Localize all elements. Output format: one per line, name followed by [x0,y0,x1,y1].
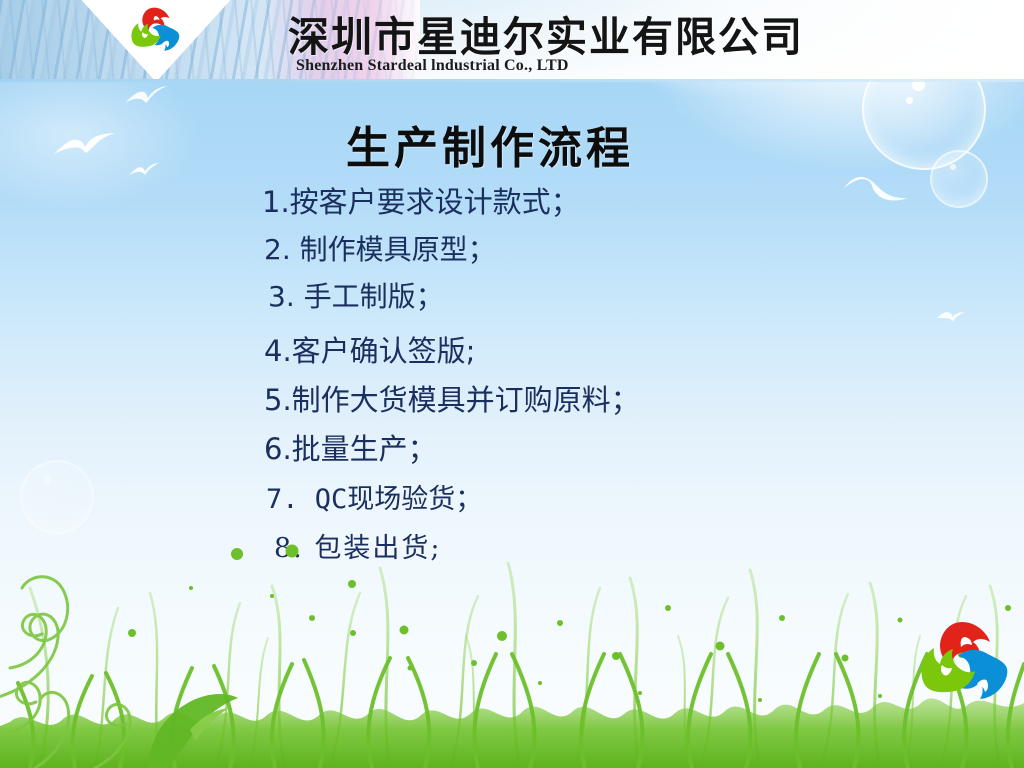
list-item: 1.按客户要求设计款式； [262,188,898,217]
header-divider [0,79,1024,82]
seagull-icon [936,310,966,324]
company-name-en: Shenzhen Stardeal lndustrial Co., LTD [296,57,569,75]
stardeal-logo-icon [108,4,200,64]
company-name-cn: 深圳市星迪尔实业有限公司 [288,3,908,63]
slide-title-text: 生产制作流程 [346,112,634,176]
slide-title: 生产制作流程 [0,112,1024,176]
presentation-slide: 深圳市星迪尔实业有限公司 Shenzhen Stardeal lndustria… [0,0,1024,768]
stardeal-logo-watermark-icon [908,618,1016,718]
list-item: 4.客户确认签版; [264,337,898,366]
list-item: 7. QC现场验货； [266,486,898,513]
list-item: 6.批量生产； [264,435,898,464]
header-title-block: 深圳市星迪尔实业有限公司 Shenzhen Stardeal lndustria… [288,0,908,79]
list-item: 3. 手工制版； [268,283,898,311]
list-item: 2. 制作模具原型； [264,236,898,264]
leaf-shape [148,694,238,768]
process-step-list: 1.按客户要求设计款式； 2. 制作模具原型； 3. 手工制版； 4.客户确认签… [258,188,898,562]
bubble-icon [20,460,94,534]
list-item: 8. 包装出货; [274,535,898,562]
list-item: 5.制作大货模具并订购原料； [264,386,898,415]
vine-swirl [0,577,130,768]
header-banner: 深圳市星迪尔实业有限公司 Shenzhen Stardeal lndustria… [0,0,1024,79]
seagull-icon [124,85,168,107]
